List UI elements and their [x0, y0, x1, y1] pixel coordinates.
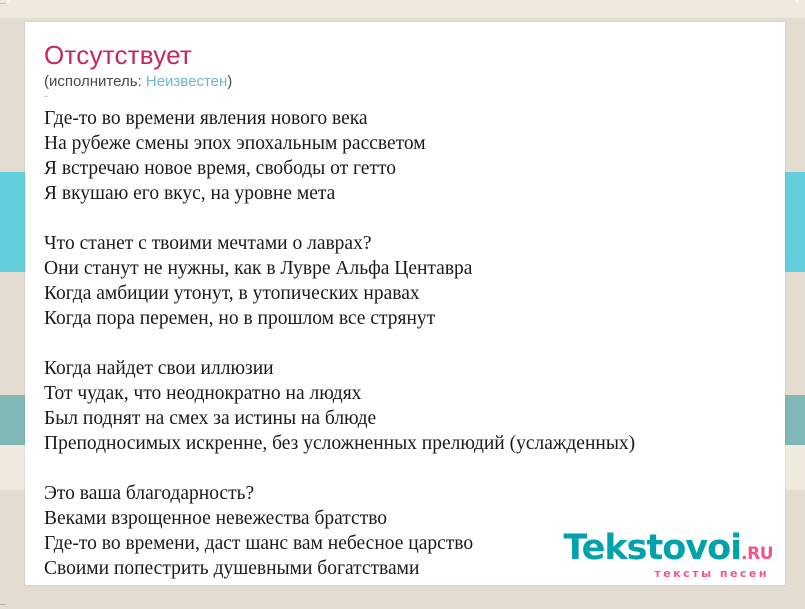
logo-tld: .RU	[741, 546, 773, 563]
artist-byline: (исполнитель: Неизвестен)	[44, 73, 785, 91]
left-edge-dotted-rule	[7, 0, 10, 609]
logo-wordmark: Tekstovoi	[563, 531, 741, 566]
lyrics-stanza: Что станет с твоими мечтами о лаврах?Они…	[44, 231, 785, 331]
lyrics-body: Где-то во времени явления нового векаНа …	[44, 106, 785, 581]
lyrics-stanza: Где-то во времени явления нового векаНа …	[44, 106, 785, 206]
lyrics-line: Тот чудак, что неоднократно на людях	[44, 381, 785, 406]
logo-wordmark-row: Tekstovoi.RU	[563, 531, 773, 566]
lyrics-line: Когда пора перемен, но в прошлом все стр…	[44, 306, 785, 331]
lyrics-line: На рубеже смены эпох эпохальным рассвето…	[44, 131, 785, 156]
song-title: Отсутствует	[44, 40, 785, 70]
lyrics-line: Где-то во времени явления нового века	[44, 106, 785, 131]
lyrics-line: Я встречаю новое время, свободы от гетто	[44, 156, 785, 181]
lyrics-stanza: Когда найдет свои иллюзииТот чудак, что …	[44, 356, 785, 456]
page-background: Отсутствует (исполнитель: Неизвестен) Гд…	[0, 0, 805, 609]
bottom-dashed-rule	[0, 604, 805, 605]
lyrics-line: Преподносимых искренне, без усложненных …	[44, 431, 785, 456]
header-divider	[44, 96, 766, 97]
byline-suffix: )	[227, 73, 232, 90]
site-logo[interactable]: Tekstovoi.RU тексты песен	[563, 531, 773, 579]
lyrics-line: Что станет с твоими мечтами о лаврах?	[44, 231, 785, 256]
top-dashed-rule	[0, 3, 805, 4]
lyrics-line: Когда амбиции утонут, в утопических нрав…	[44, 281, 785, 306]
background-band-cream-top	[0, 0, 805, 18]
artist-link[interactable]: Неизвестен	[146, 73, 227, 90]
lyrics-line: Это ваша благодарность?	[44, 481, 785, 506]
lyrics-line: Когда найдет свои иллюзии	[44, 356, 785, 381]
lyrics-line: Они станут не нужны, как в Лувре Альфа Ц…	[44, 256, 785, 281]
lyrics-card-content: Отсутствует (исполнитель: Неизвестен) Гд…	[25, 22, 785, 581]
byline-prefix: (исполнитель:	[44, 73, 146, 90]
lyrics-line: Был поднят на смех за истины на блюде	[44, 406, 785, 431]
lyrics-line: Я вкушаю его вкус, на уровне мета	[44, 181, 785, 206]
logo-tagline: тексты песен	[563, 568, 769, 579]
lyrics-card: Отсутствует (исполнитель: Неизвестен) Гд…	[25, 22, 785, 585]
right-edge-dotted-rule	[795, 0, 798, 609]
